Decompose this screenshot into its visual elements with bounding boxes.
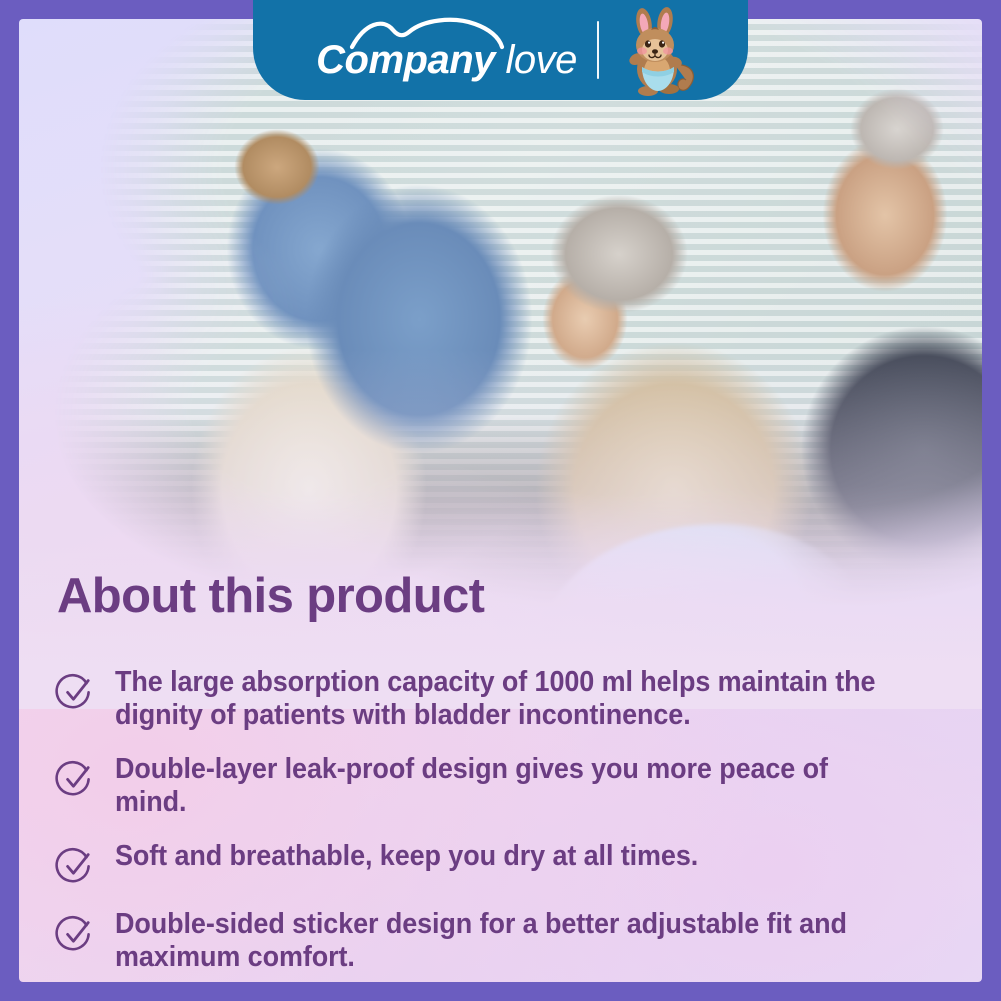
brand-banner: Company love bbox=[253, 0, 748, 100]
list-item: The large absorption capacity of 1000 ml… bbox=[55, 666, 965, 731]
brand-name: Company love bbox=[316, 40, 577, 80]
product-feature-card: About this product The large absorption … bbox=[0, 0, 1001, 1001]
check-circle-icon bbox=[55, 672, 95, 712]
feature-text: Double-layer leak-proof design gives you… bbox=[115, 753, 906, 818]
card-canvas: About this product The large absorption … bbox=[19, 19, 982, 982]
check-circle-icon bbox=[55, 914, 95, 954]
feature-text: The large absorption capacity of 1000 ml… bbox=[115, 666, 906, 731]
list-item: Double-sided sticker design for a better… bbox=[55, 908, 965, 973]
feature-text: Double-sided sticker design for a better… bbox=[115, 908, 906, 973]
brand-logo: Company love bbox=[301, 10, 593, 90]
product-info-section: About this product The large absorption … bbox=[55, 571, 965, 973]
feature-text: Soft and breathable, keep you dry at all… bbox=[115, 840, 698, 872]
check-circle-icon bbox=[55, 759, 95, 799]
check-circle-icon bbox=[55, 846, 95, 886]
list-item: Soft and breathable, keep you dry at all… bbox=[55, 840, 965, 886]
brand-name-primary: Company bbox=[316, 38, 495, 82]
list-item: Double-layer leak-proof design gives you… bbox=[55, 753, 965, 818]
feature-list: The large absorption capacity of 1000 ml… bbox=[55, 666, 965, 973]
brand-name-secondary: love bbox=[495, 38, 577, 82]
vertical-divider bbox=[597, 21, 599, 79]
page-title: About this product bbox=[55, 571, 965, 622]
kangaroo-mascot bbox=[615, 7, 701, 97]
